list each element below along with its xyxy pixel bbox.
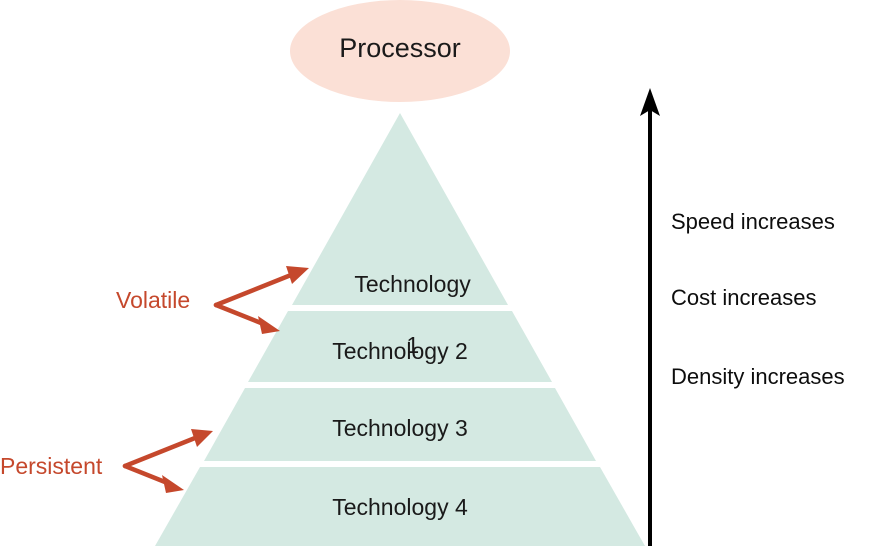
pyramid-tier-3-label: Technology 3: [225, 413, 575, 444]
persistent-arrow-down-shaft: [125, 466, 170, 484]
increase-axis-arrow: [640, 88, 660, 546]
cost-increases-label: Cost increases: [671, 285, 817, 311]
speed-increases-label: Speed increases: [671, 209, 835, 235]
pyramid-tier-2-label: Technology 2: [225, 336, 575, 367]
persistent-arrow-down-head: [162, 475, 184, 493]
pyramid-tier-1-label-line1: Technology: [354, 271, 470, 297]
volatile-label: Volatile: [116, 287, 190, 314]
diagram-canvas: Processor Technology 1 Technology 2 Tech…: [0, 0, 875, 546]
persistent-label: Persistent: [0, 453, 102, 480]
density-increases-label: Density increases: [671, 364, 845, 390]
pyramid-tier-1-label: Technology 1: [225, 238, 575, 391]
processor-label: Processor: [0, 33, 800, 64]
persistent-arrow-up-head: [191, 429, 213, 447]
pyramid-tier-4-label: Technology 4: [225, 492, 575, 523]
persistent-arrow-up-shaft: [125, 436, 200, 466]
